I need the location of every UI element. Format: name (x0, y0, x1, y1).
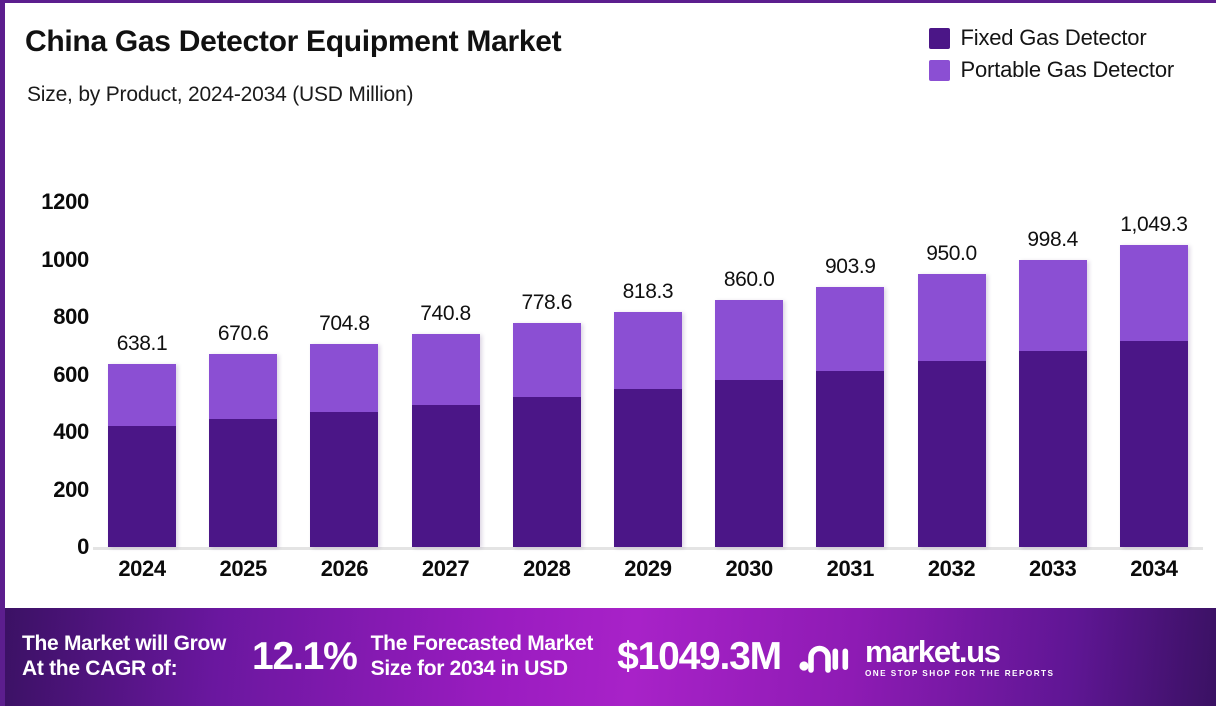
x-axis-tick: 2025 (209, 556, 277, 604)
logo-tagline: ONE STOP SHOP FOR THE REPORTS (865, 670, 1054, 678)
bar-total-label: 740.8 (420, 302, 471, 326)
bar-total-label: 818.3 (623, 280, 674, 304)
legend-item-fixed[interactable]: Fixed Gas Detector (929, 25, 1174, 51)
bar-group[interactable]: 704.8 (310, 138, 378, 547)
x-axis-tick: 2030 (715, 556, 783, 604)
x-axis-tick: 2031 (816, 556, 884, 604)
bar-series-container: 638.1670.6704.8740.8778.6818.3860.0903.9… (93, 138, 1203, 547)
chart-plot-area: 020040060080010001200 638.1670.6704.8740… (5, 138, 1216, 606)
y-axis-tick: 400 (53, 419, 89, 445)
x-axis: 2024202520262027202820292030203120322033… (93, 556, 1203, 604)
stacked-bar[interactable]: 638.1 (108, 364, 176, 547)
bar-segment-portable[interactable] (310, 344, 378, 412)
y-axis-tick: 1000 (41, 247, 89, 273)
legend-label-portable: Portable Gas Detector (961, 57, 1174, 83)
bar-total-label: 704.8 (319, 312, 370, 336)
page-subtitle: Size, by Product, 2024-2034 (USD Million… (27, 83, 413, 107)
x-axis-tick: 2033 (1019, 556, 1087, 604)
legend-item-portable[interactable]: Portable Gas Detector (929, 57, 1174, 83)
bar-segment-fixed[interactable] (412, 405, 480, 547)
stacked-bar[interactable]: 778.6 (513, 323, 581, 547)
bar-group[interactable]: 670.6 (209, 138, 277, 547)
bar-group[interactable]: 740.8 (412, 138, 480, 547)
bar-group[interactable]: 1,049.3 (1120, 138, 1188, 547)
bar-segment-portable[interactable] (1120, 245, 1188, 340)
logo-name: market.us (865, 636, 1054, 667)
market-us-logo[interactable]: market.us ONE STOP SHOP FOR THE REPORTS (799, 636, 1054, 678)
x-axis-baseline (93, 547, 1203, 550)
bar-total-label: 670.6 (218, 322, 269, 346)
logo-text-block: market.us ONE STOP SHOP FOR THE REPORTS (865, 636, 1054, 678)
x-axis-tick: 2034 (1120, 556, 1188, 604)
bar-total-label: 638.1 (117, 332, 168, 356)
page-title: China Gas Detector Equipment Market (25, 25, 561, 59)
y-axis-tick: 800 (53, 304, 89, 330)
chart-header: China Gas Detector Equipment Market Size… (5, 3, 1216, 138)
bar-segment-fixed[interactable] (209, 419, 277, 547)
y-axis-tick: 200 (53, 477, 89, 503)
bar-segment-portable[interactable] (209, 354, 277, 419)
bar-segment-fixed[interactable] (614, 389, 682, 547)
x-axis-tick: 2028 (513, 556, 581, 604)
stacked-bar[interactable]: 818.3 (614, 312, 682, 547)
bar-segment-fixed[interactable] (715, 380, 783, 547)
x-axis-tick: 2032 (918, 556, 986, 604)
chart-legend: Fixed Gas Detector Portable Gas Detector (929, 25, 1174, 83)
x-axis-tick: 2024 (108, 556, 176, 604)
bar-total-label: 1,049.3 (1120, 213, 1187, 237)
stacked-bar[interactable]: 903.9 (816, 287, 884, 547)
stacked-bar[interactable]: 860.0 (715, 300, 783, 547)
square-swatch-icon (929, 60, 950, 81)
cagr-caption: The Market will Grow At the CAGR of: (22, 632, 226, 682)
stacked-bar[interactable]: 704.8 (310, 344, 378, 547)
forecast-value: $1049.3M (617, 635, 781, 679)
bar-group[interactable]: 998.4 (1019, 138, 1087, 547)
bar-segment-fixed[interactable] (513, 397, 581, 547)
y-axis-tick: 1200 (41, 189, 89, 215)
legend-label-fixed: Fixed Gas Detector (961, 25, 1147, 51)
y-axis: 020040060080010001200 (5, 138, 95, 556)
bar-segment-portable[interactable] (715, 300, 783, 380)
bar-total-label: 998.4 (1027, 228, 1078, 252)
x-axis-tick: 2027 (412, 556, 480, 604)
y-axis-tick: 600 (53, 362, 89, 388)
stacked-bar[interactable]: 1,049.3 (1120, 245, 1188, 547)
bar-segment-fixed[interactable] (108, 426, 176, 547)
bar-segment-portable[interactable] (816, 287, 884, 371)
cagr-value: 12.1% (252, 635, 357, 679)
stacked-bar[interactable]: 998.4 (1019, 260, 1087, 547)
bar-total-label: 950.0 (926, 242, 977, 266)
bar-segment-portable[interactable] (918, 274, 986, 361)
bar-group[interactable]: 950.0 (918, 138, 986, 547)
x-axis-tick: 2029 (614, 556, 682, 604)
bar-segment-fixed[interactable] (310, 412, 378, 547)
bar-group[interactable]: 860.0 (715, 138, 783, 547)
forecast-caption: The Forecasted Market Size for 2034 in U… (371, 632, 593, 682)
bar-group[interactable]: 818.3 (614, 138, 682, 547)
market-us-mark-icon (799, 640, 855, 674)
bar-segment-portable[interactable] (108, 364, 176, 427)
bar-segment-fixed[interactable] (1120, 341, 1188, 547)
bar-segment-portable[interactable] (1019, 260, 1087, 351)
stacked-bar[interactable]: 670.6 (209, 354, 277, 547)
bar-group[interactable]: 778.6 (513, 138, 581, 547)
summary-banner: The Market will Grow At the CAGR of: 12.… (0, 608, 1216, 706)
stacked-bar[interactable]: 950.0 (918, 274, 986, 547)
x-axis-tick: 2026 (310, 556, 378, 604)
y-axis-tick: 0 (77, 534, 89, 560)
bar-segment-portable[interactable] (513, 323, 581, 397)
square-swatch-icon (929, 28, 950, 49)
bar-group[interactable]: 903.9 (816, 138, 884, 547)
infographic-root: China Gas Detector Equipment Market Size… (0, 0, 1216, 706)
bar-group[interactable]: 638.1 (108, 138, 176, 547)
bar-total-label: 860.0 (724, 268, 775, 292)
bar-segment-portable[interactable] (614, 312, 682, 389)
bar-segment-fixed[interactable] (1019, 351, 1087, 547)
bar-total-label: 903.9 (825, 255, 876, 279)
bar-segment-fixed[interactable] (918, 361, 986, 547)
bar-segment-portable[interactable] (412, 334, 480, 405)
stacked-bar[interactable]: 740.8 (412, 334, 480, 547)
bar-total-label: 778.6 (521, 291, 572, 315)
bar-segment-fixed[interactable] (816, 371, 884, 547)
